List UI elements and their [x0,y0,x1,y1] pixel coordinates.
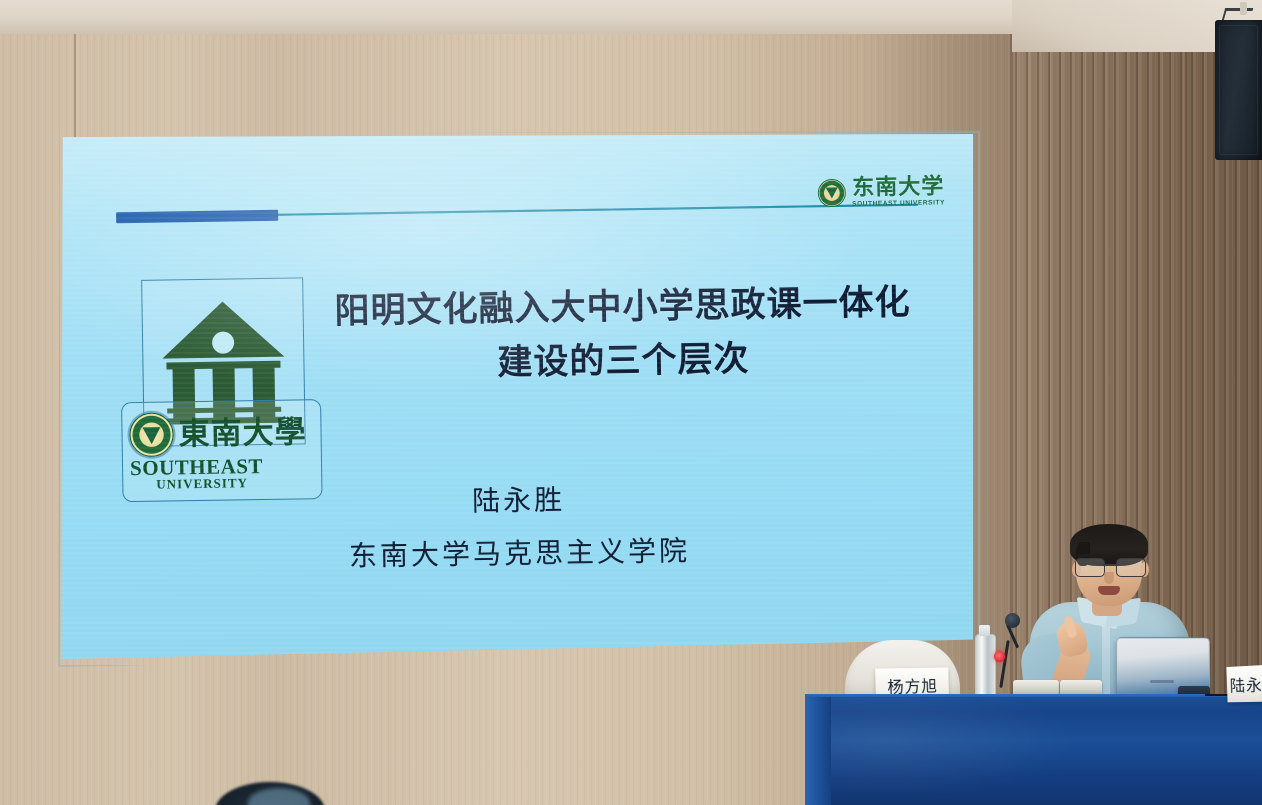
laptop-hinge [1150,680,1174,683]
table-skirt-corner [805,697,831,805]
slide-university-logo: 东南大学 SOUTHEAST UNIVERSITY [818,175,945,208]
slide-title-line-2: 建设的三个层次 [300,330,947,394]
slide-header-accent-bar [116,210,278,224]
university-seal-icon [129,412,174,457]
name-placard-right-text: 陆永 [1229,671,1262,696]
projection-screen: 东南大学 SOUTHEAST UNIVERSITY [61,134,973,659]
speaker-mount-screw [1240,2,1247,15]
university-logo-text: 东南大学 SOUTHEAST UNIVERSITY [852,175,945,207]
name-placard-right: 陆永 [1226,665,1262,702]
glasses-lens-left [1075,558,1105,577]
slide-title: 阳明文化融入大中小学思政课一体化 建设的三个层次 [299,275,947,394]
microphone-status-ring [994,651,1005,662]
slide-presenter-block: 陆永胜 东南大学马克思主义学院 [62,467,973,588]
university-seal-icon [818,178,846,206]
table-skirt-folds [805,697,1262,805]
presenter-mouth [1098,586,1120,595]
university-logo-cn: 东南大学 [852,175,944,198]
glasses-lens-right [1116,558,1146,577]
slide-title-line-1: 阳明文化融入大中小学思政课一体化 [299,275,946,339]
shirt-placket [1102,620,1110,704]
presenter-nose [1104,572,1114,584]
wordmark-row: 東南大學 [129,410,307,457]
table-skirt [805,697,1262,805]
university-logo-en: SOUTHEAST UNIVERSITY [852,199,945,207]
water-bottle [975,634,996,702]
wordmark-cn: 東南大學 [178,416,306,449]
glasses-bridge [1103,564,1116,566]
microphone-head [1005,613,1020,628]
water-bottle-cap [979,625,990,636]
ceiling-speaker [1215,20,1262,160]
presentation-slide: 东南大学 SOUTHEAST UNIVERSITY [61,134,973,659]
lecture-hall-scene: 东南大学 SOUTHEAST UNIVERSITY [0,0,1262,805]
